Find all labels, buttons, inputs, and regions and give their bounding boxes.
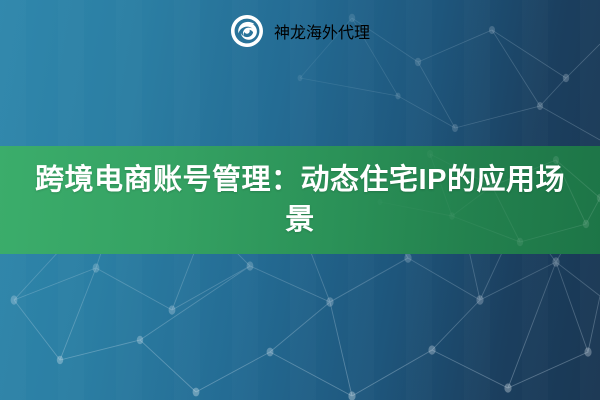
swirl-logo-icon [230,14,264,48]
brand-header: 神龙海外代理 [0,0,600,62]
promo-banner: 神龙海外代理 [0,0,600,400]
title-band: 跨境电商账号管理：动态住宅IP的应用场景 [0,146,600,254]
brand-name: 神龙海外代理 [274,19,370,43]
page-title: 跨境电商账号管理：动态住宅IP的应用场景 [24,160,576,240]
